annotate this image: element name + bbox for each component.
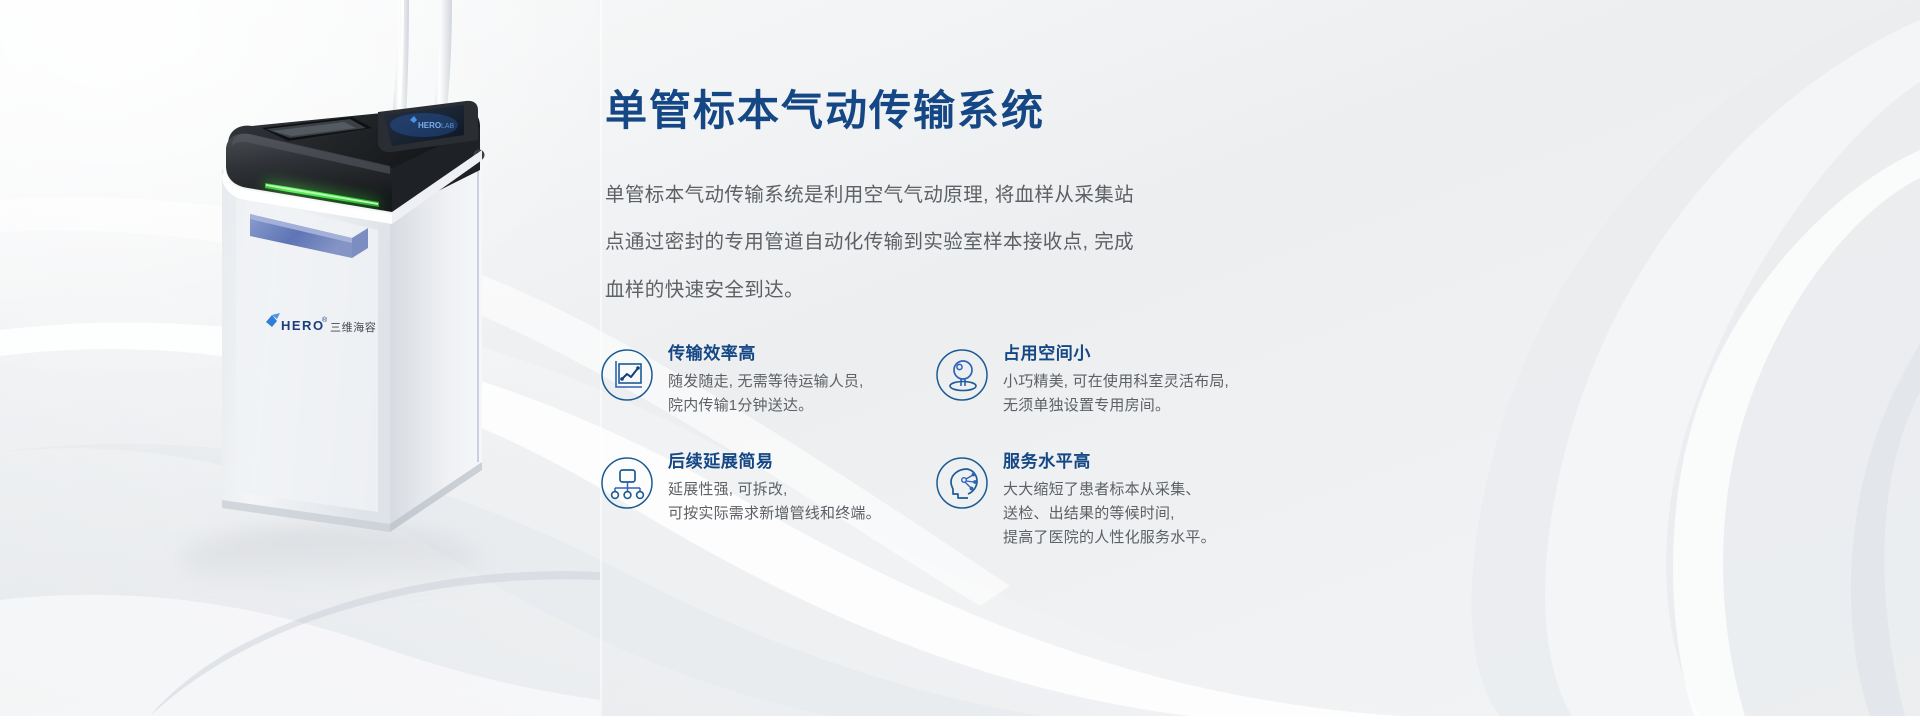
feature-item-transmission-efficiency: 传输效率高 随发随走, 无需等待运输人员, 院内传输1分钟送达。 bbox=[600, 340, 935, 448]
line-chart-icon bbox=[600, 348, 654, 402]
feature-list: 传输效率高 随发随走, 无需等待运输人员, 院内传输1分钟送达。 占用空间小 小… bbox=[600, 340, 1300, 551]
intro-paragraph: 单管标本气动传输系统是利用空气气动原理, 将血样从采集站 点通过密封的专用管道自… bbox=[605, 172, 1260, 315]
feature-title: 服务水平高 bbox=[1003, 450, 1216, 475]
hierarchy-tree-icon bbox=[600, 456, 654, 510]
feature-desc-line: 随发随走, 无需等待运输人员, bbox=[668, 370, 864, 394]
feature-title: 后续延展简易 bbox=[668, 450, 881, 475]
svg-text:HERO: HERO bbox=[418, 121, 441, 130]
feature-item-service-level: 服务水平高 大大缩短了患者标本从采集、 送检、出结果的等候时间, 提高了医院的人… bbox=[935, 448, 1270, 551]
product-banner: HERO LAB HERO ® 三维海容 bbox=[0, 0, 1920, 716]
svg-text:LAB: LAB bbox=[441, 123, 455, 130]
svg-text:®: ® bbox=[322, 316, 328, 324]
feature-text: 占用空间小 小巧精美, 可在使用科室灵活布局, 无须单独设置专用房间。 bbox=[1003, 340, 1229, 418]
feature-desc-line: 小巧精美, 可在使用科室灵活布局, bbox=[1003, 370, 1229, 394]
page-title: 单管标本气动传输系统 bbox=[605, 86, 1305, 136]
feature-title: 占用空间小 bbox=[1003, 342, 1229, 367]
feature-text: 传输效率高 随发随走, 无需等待运输人员, 院内传输1分钟送达。 bbox=[668, 340, 864, 418]
feature-text: 服务水平高 大大缩短了患者标本从采集、 送检、出结果的等候时间, 提高了医院的人… bbox=[1003, 448, 1216, 551]
feature-desc-line: 无须单独设置专用房间。 bbox=[1003, 394, 1229, 418]
smart-head-network-icon bbox=[935, 456, 989, 510]
intro-line-1: 单管标本气动传输系统是利用空气气动原理, 将血样从采集站 bbox=[605, 172, 1260, 220]
feature-desc-line: 大大缩短了患者标本从采集、 bbox=[1003, 478, 1216, 502]
feature-title: 传输效率高 bbox=[668, 342, 864, 367]
intro-line-2: 点通过密封的专用管道自动化传输到实验室样本接收点, 完成 bbox=[605, 219, 1260, 267]
location-pin-space-icon bbox=[935, 348, 989, 402]
banner-text-block: 单管标本气动传输系统 单管标本气动传输系统是利用空气气动原理, 将血样从采集站 … bbox=[605, 86, 1305, 315]
svg-text:HERO: HERO bbox=[281, 318, 325, 333]
feature-desc-line: 院内传输1分钟送达。 bbox=[668, 394, 864, 418]
feature-desc-line: 延展性强, 可拆改, bbox=[668, 478, 881, 502]
feature-item-easy-expansion: 后续延展简易 延展性强, 可拆改, 可按实际需求新增管线和终端。 bbox=[600, 448, 935, 551]
feature-desc-line: 可按实际需求新增管线和终端。 bbox=[668, 502, 881, 526]
feature-desc-line: 送检、出结果的等候时间, bbox=[1003, 502, 1216, 526]
device-image: HERO LAB HERO ® 三维海容 bbox=[0, 0, 600, 716]
feature-item-small-footprint: 占用空间小 小巧精美, 可在使用科室灵活布局, 无须单独设置专用房间。 bbox=[935, 340, 1270, 448]
intro-line-3: 血样的快速安全到达。 bbox=[605, 267, 1260, 315]
feature-text: 后续延展简易 延展性强, 可拆改, 可按实际需求新增管线和终端。 bbox=[668, 448, 881, 526]
feature-desc-line: 提高了医院的人性化服务水平。 bbox=[1003, 526, 1216, 550]
svg-text:三维海容: 三维海容 bbox=[330, 320, 376, 334]
